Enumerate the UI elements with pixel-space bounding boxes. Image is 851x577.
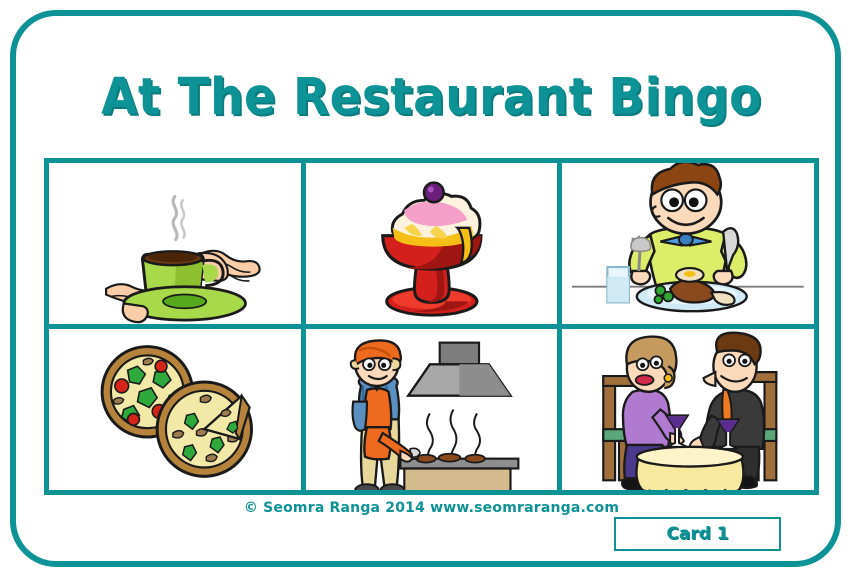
cup-of-coffee-icon [49,163,301,324]
couple-dining-icon [562,329,814,490]
pizzas-icon [49,329,301,490]
bingo-grid [44,158,819,495]
ice-cream-sundae-icon [306,163,558,324]
bingo-cell-couple-dining[interactable] [562,329,814,490]
card-number-box: Card 1 [614,517,781,551]
bingo-cell-boy-eating-dinner[interactable] [562,163,814,324]
bingo-card: At The Restaurant Bingo [10,10,841,567]
cook-at-grill-icon [306,329,558,490]
bingo-cell-pizzas[interactable] [49,329,301,490]
bingo-cell-ice-cream-sundae[interactable] [306,163,558,324]
boy-eating-dinner-icon [562,163,814,324]
bingo-cell-cook-at-grill[interactable] [306,329,558,490]
copyright-footer: © Seomra Ranga 2014 www.seomraranga.com [16,500,847,516]
page-title: At The Restaurant Bingo [49,68,814,127]
card-number-label: Card 1 [666,524,728,544]
bingo-cell-cup-of-coffee[interactable] [49,163,301,324]
